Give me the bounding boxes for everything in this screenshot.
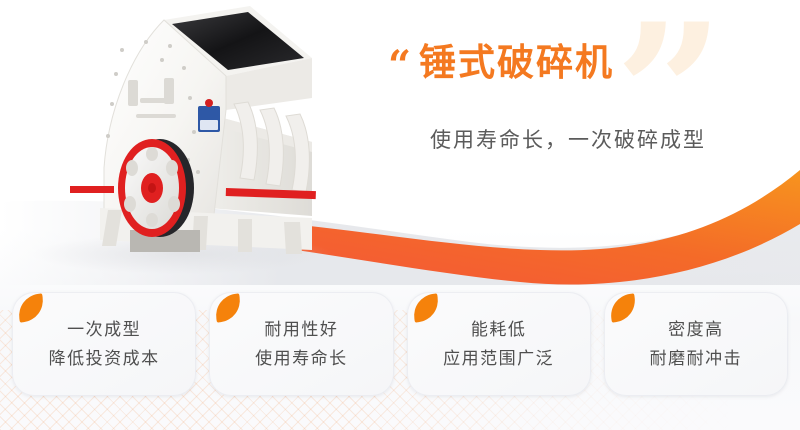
feature-line-1: 密度高	[668, 319, 724, 340]
feature-card[interactable]: 一次成型 降低投资成本	[12, 292, 196, 396]
product-banner: ”	[0, 0, 800, 430]
opening-quote-icon: “	[388, 46, 409, 86]
leaf-accent-icon	[16, 293, 45, 322]
page-title: 锤式破碎机	[419, 42, 614, 85]
title-row: “ 锤式破碎机	[388, 42, 788, 86]
feature-line-1: 能耗低	[471, 319, 527, 340]
feature-line-1: 一次成型	[67, 319, 141, 340]
headline-block: “ 锤式破碎机 使用寿命长，一次破碎成型	[388, 42, 788, 154]
feature-card-list: 一次成型 降低投资成本 耐用性好 使用寿命长 能耗低 应用范围广泛 密度高 耐磨…	[12, 292, 788, 396]
page-subtitle: 使用寿命长，一次破碎成型	[430, 124, 788, 154]
feature-line-2: 降低投资成本	[49, 348, 160, 369]
leaf-accent-icon	[608, 293, 637, 322]
product-image-hammer-crusher	[12, 2, 342, 282]
feature-card[interactable]: 耐用性好 使用寿命长	[209, 292, 393, 396]
feature-card[interactable]: 密度高 耐磨耐冲击	[604, 292, 788, 396]
leaf-accent-icon	[214, 293, 243, 322]
leaf-accent-icon	[411, 293, 440, 322]
feature-line-2: 使用寿命长	[255, 348, 348, 369]
feature-line-1: 耐用性好	[264, 319, 338, 340]
feature-card[interactable]: 能耗低 应用范围广泛	[407, 292, 591, 396]
feature-line-2: 应用范围广泛	[443, 348, 554, 369]
feature-line-2: 耐磨耐冲击	[650, 348, 743, 369]
